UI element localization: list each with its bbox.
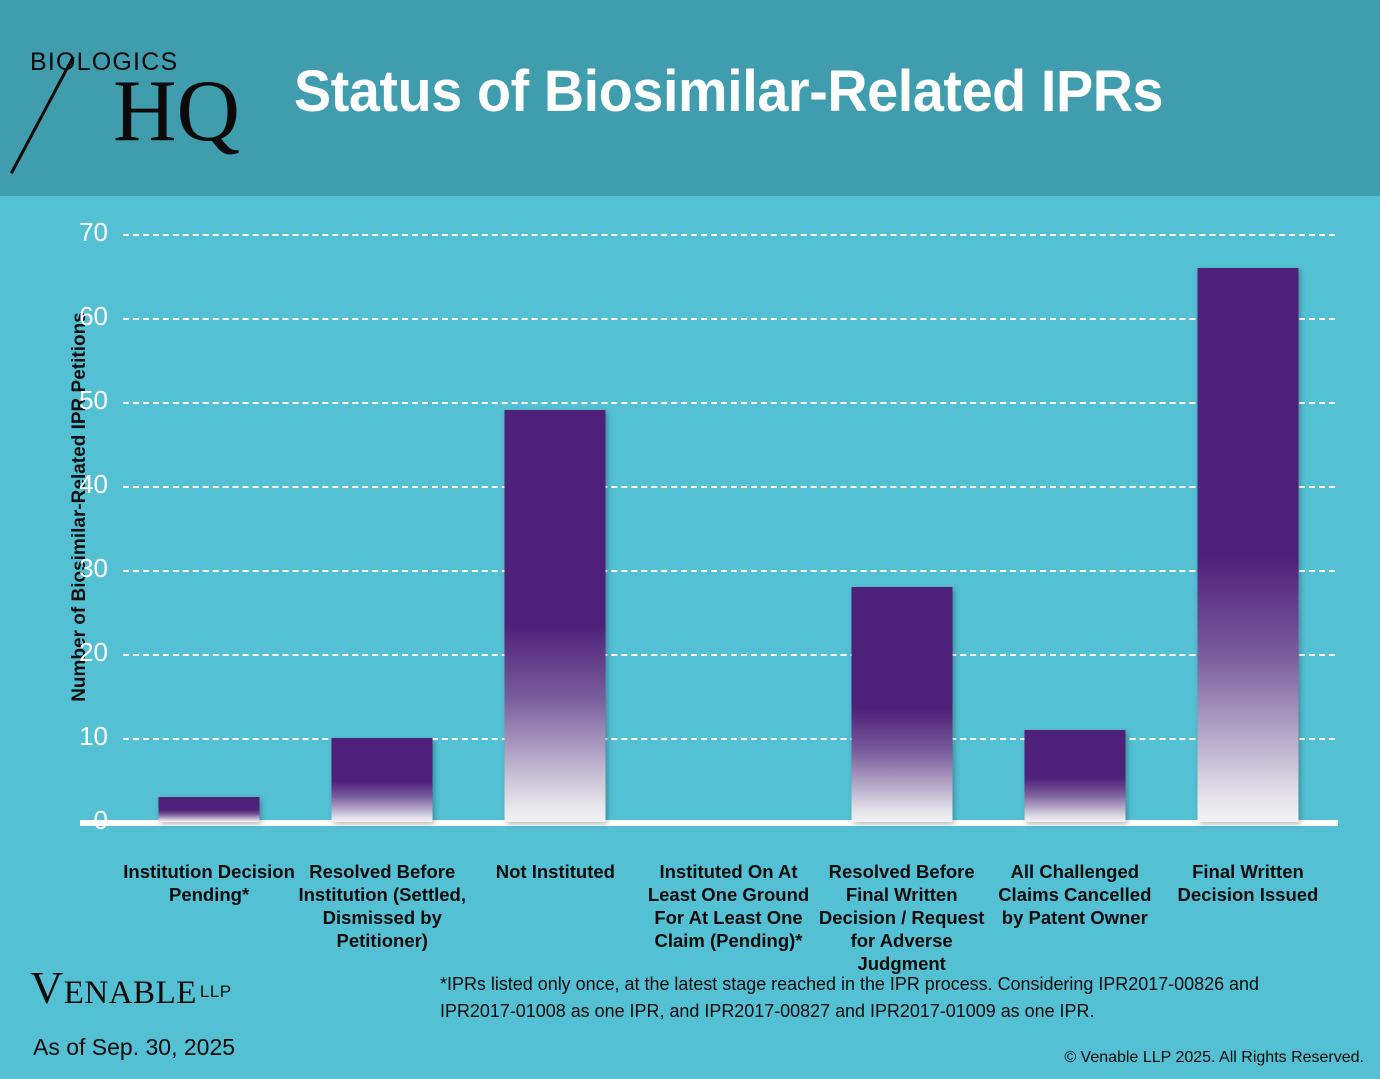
y-axis-tick-label: 30: [46, 553, 108, 584]
bar-slot: [816, 234, 988, 822]
venable-logo: VENABLELLP: [30, 965, 232, 1016]
logo-hq-text: HQ: [113, 68, 240, 156]
bar-slot: [296, 234, 468, 822]
bar-slot: [1162, 234, 1334, 822]
plot-area: [123, 234, 1335, 822]
footnote-text: *IPRs listed only once, at the latest st…: [440, 970, 1313, 1024]
page-header: BIOLOGICS HQ Status of Biosimilar-Relate…: [0, 0, 1380, 196]
bar[interactable]: [851, 587, 952, 822]
x-axis-tick-label: Resolved Before Institution (Settled, Di…: [296, 860, 468, 952]
biologicshq-logo: BIOLOGICS HQ: [28, 38, 258, 158]
bar[interactable]: [159, 797, 260, 822]
y-axis-tick-label: 70: [46, 217, 108, 248]
venable-logo-initial: V: [30, 962, 64, 1013]
bar-slot: [642, 234, 814, 822]
copyright-text: © Venable LLP 2025. All Rights Reserved.: [1064, 1049, 1364, 1067]
bar[interactable]: [505, 410, 606, 822]
x-axis-tick-label: All Challenged Claims Cancelled by Paten…: [989, 860, 1161, 929]
bar[interactable]: [332, 738, 433, 822]
venable-logo-rest: ENABLE: [64, 975, 197, 1011]
venable-logo-text: VENABLE: [30, 962, 197, 1013]
bar-chart: Number of Biosimilar-Related IPR Petitio…: [0, 196, 1380, 856]
x-axis-labels: Institution Decision Pending*Resolved Be…: [123, 860, 1335, 980]
y-axis-tick-label: 20: [46, 637, 108, 668]
bar[interactable]: [1024, 730, 1125, 822]
y-axis-tick-label: 10: [46, 721, 108, 752]
as-of-date: As of Sep. 30, 2025: [33, 1034, 235, 1061]
x-axis-tick-label: Final Written Decision Issued: [1162, 860, 1334, 906]
bar-slot: [469, 234, 641, 822]
y-axis-tick-label: 50: [46, 385, 108, 416]
x-axis-tick-label: Resolved Before Final Written Decision /…: [816, 860, 988, 975]
bar-slot: [989, 234, 1161, 822]
page-title: Status of Biosimilar-Related IPRs: [294, 58, 1163, 125]
y-axis-tick-label: 40: [46, 469, 108, 500]
x-axis-tick-label: Institution Decision Pending*: [123, 860, 295, 906]
x-axis-tick-label: Not Instituted: [469, 860, 641, 883]
y-axis-tick-label: 60: [46, 301, 108, 332]
bar-slot: [123, 234, 295, 822]
venable-logo-suffix: LLP: [200, 982, 232, 1001]
bar[interactable]: [1197, 268, 1298, 822]
x-axis-tick-label: Instituted On At Least One Ground For At…: [642, 860, 814, 952]
